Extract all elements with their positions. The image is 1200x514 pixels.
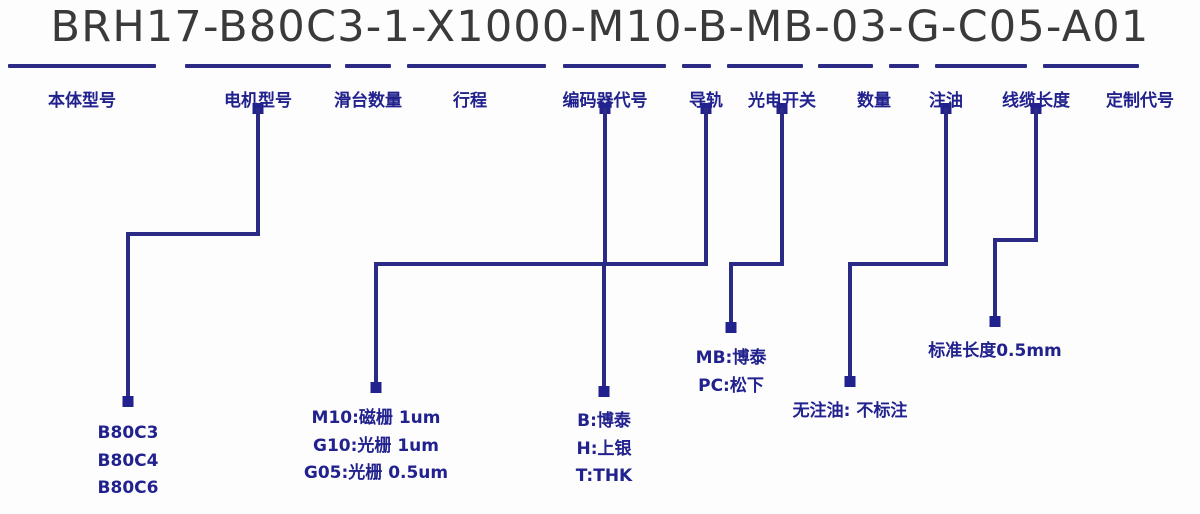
annotation-body-model-options: B80C3B80C4B80C6 (98, 420, 159, 503)
leader-guide-rail-lower-stem (602, 262, 606, 386)
leader-cable-length-lower-stem (993, 238, 997, 316)
segment-underline-b (682, 64, 711, 68)
leader-cable-length-crossbar (993, 238, 1038, 242)
segment-underline-brh17 (8, 64, 156, 68)
leader-body-model-lower-stem (126, 232, 130, 396)
leader-oil-upper-stem (944, 108, 948, 262)
annotation-photo-switch-options: MB:博泰PC:松下 (696, 345, 767, 400)
leader-photo-switch-crossbar (729, 262, 784, 266)
leader-body-model-bottom-node (123, 396, 134, 407)
segment-underline-a01 (1043, 64, 1139, 68)
leader-body-model-crossbar (126, 232, 260, 236)
segment-underline-1 (345, 64, 391, 68)
annotation-line: B80C4 (98, 448, 159, 476)
leader-cable-length-upper-stem (1034, 108, 1038, 238)
annotation-line: G10:光栅 1um (304, 433, 448, 461)
leader-photo-switch-upper-stem (780, 108, 784, 262)
segment-underline-mb (727, 64, 803, 68)
leader-guide-rail-upper-stem (704, 108, 708, 262)
annotation-line: T:THK (576, 463, 632, 491)
segment-underline-m10 (563, 64, 666, 68)
leader-oil-crossbar (848, 262, 948, 266)
segment-underline-g (889, 64, 919, 68)
leader-oil-bottom-node (845, 376, 856, 387)
leader-photo-switch-bottom-node (726, 322, 737, 333)
leader-encoder-crossbar (374, 262, 607, 266)
leader-oil-lower-stem (848, 262, 852, 376)
leader-encoder-lower-stem (374, 262, 378, 382)
category-label-quantity: 数量 (857, 86, 891, 111)
leader-encoder-upper-stem (603, 108, 607, 262)
annotation-line: B80C3 (98, 420, 159, 448)
leader-encoder-bottom-node (371, 382, 382, 393)
annotation-line: M10:磁栅 1um (304, 405, 448, 433)
segment-underline-c05 (935, 64, 1027, 68)
segment-underline-03 (818, 64, 873, 68)
annotation-encoder-options: M10:磁栅 1umG10:光栅 1umG05:光栅 0.5um (304, 405, 448, 488)
annotation-guide-rail-options: B:博泰H:上银T:THK (576, 408, 632, 491)
category-label-body-model: 本体型号 (48, 86, 116, 111)
segment-underline-x1000 (407, 64, 546, 68)
annotation-cable-length-note: 标准长度0.5mm (928, 338, 1062, 366)
annotation-line: B:博泰 (576, 408, 632, 436)
part-number-title: BRH17-B80C3-1-X1000-M10-B-MB-03-G-C05-A0… (0, 2, 1200, 52)
annotation-line: PC:松下 (696, 373, 767, 401)
annotation-line: B80C6 (98, 475, 159, 503)
leader-photo-switch-lower-stem (729, 262, 733, 322)
annotation-line: 标准长度0.5mm (928, 338, 1062, 366)
annotation-line: H:上银 (576, 436, 632, 464)
part-number-breakdown-diagram: BRH17-B80C3-1-X1000-M10-B-MB-03-G-C05-A0… (0, 0, 1200, 514)
leader-cable-length-bottom-node (990, 316, 1001, 327)
leader-guide-rail-bottom-node (599, 386, 610, 397)
category-label-custom-code: 定制代号 (1106, 86, 1174, 111)
segment-underline-b80c3 (185, 64, 331, 68)
leader-guide-rail-crossbar (602, 262, 708, 266)
leader-body-model-upper-stem (256, 108, 260, 232)
annotation-line: G05:光栅 0.5um (304, 460, 448, 488)
annotation-line: 无注油: 不标注 (793, 398, 908, 426)
category-label-stroke: 行程 (453, 86, 487, 111)
annotation-oil-note: 无注油: 不标注 (793, 398, 908, 426)
annotation-line: MB:博泰 (696, 345, 767, 373)
category-label-slide-count: 滑台数量 (334, 86, 402, 111)
